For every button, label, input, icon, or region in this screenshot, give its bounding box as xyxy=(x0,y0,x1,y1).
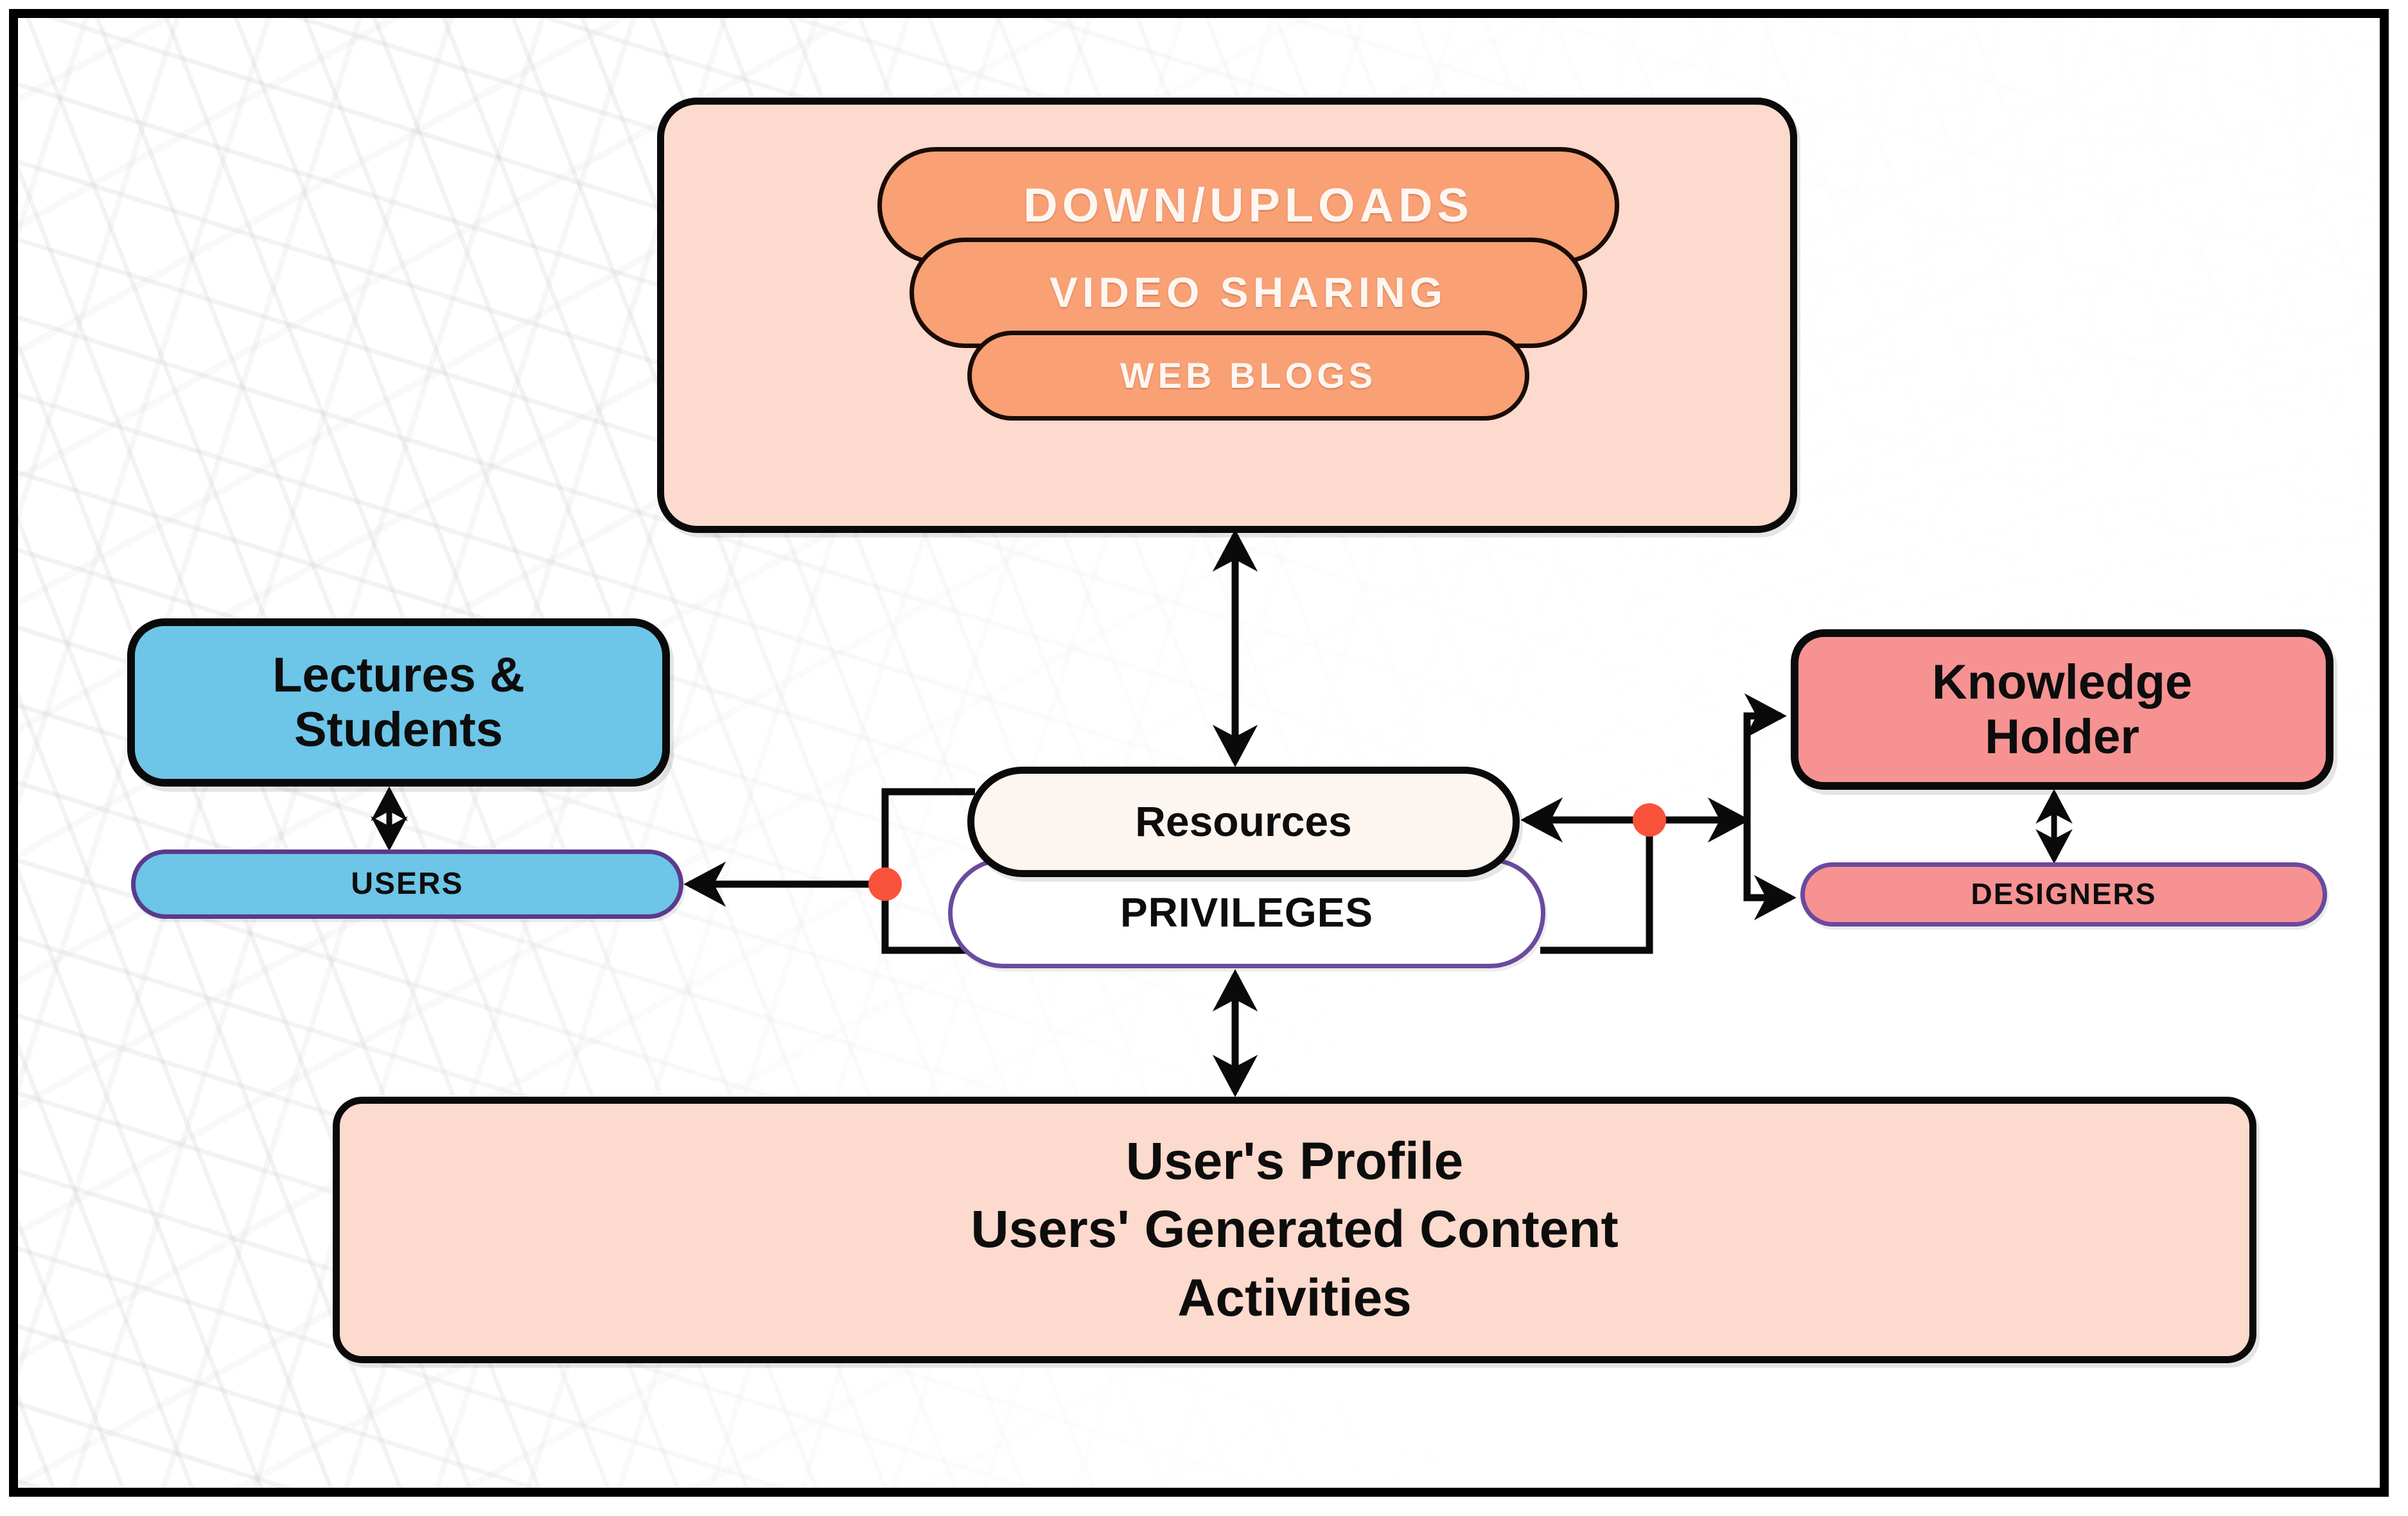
wire-riser-to-designers xyxy=(1747,820,1791,898)
service-pill-label: VIDEO SHARING xyxy=(1050,269,1447,317)
node-profile-line1: User's Profile xyxy=(1126,1128,1463,1196)
node-profile-line3: Activities xyxy=(1177,1264,1412,1333)
node-user-profile-panel[interactable]: User's Profile Users' Generated Content … xyxy=(333,1097,2256,1363)
diagram-canvas: DOWN/UPLOADS VIDEO SHARING WEB BLOGS Lec… xyxy=(0,0,2408,1516)
content-services-panel: DOWN/UPLOADS VIDEO SHARING WEB BLOGS xyxy=(657,98,1797,533)
node-privileges-label: PRIVILEGES xyxy=(1120,890,1373,936)
service-pill-label: WEB BLOGS xyxy=(1120,356,1376,396)
junction-dot-left xyxy=(868,867,902,901)
wire-privileges-right-branch xyxy=(1540,820,1649,950)
node-knowledge-line1: Knowledge xyxy=(1932,655,2192,710)
node-knowledge-holder[interactable]: Knowledge Holder xyxy=(1791,629,2333,790)
node-lectures-and-students[interactable]: Lectures & Students xyxy=(127,618,670,787)
node-lectures-line2: Students xyxy=(272,702,525,757)
node-designers-role[interactable]: DESIGNERS xyxy=(1800,862,2327,927)
junction-dot-right xyxy=(1633,803,1666,837)
node-resources[interactable]: Resources xyxy=(967,767,1520,877)
service-pill-web-blogs[interactable]: WEB BLOGS xyxy=(967,331,1529,421)
service-pill-label: DOWN/UPLOADS xyxy=(1023,179,1473,232)
node-knowledge-text: Knowledge Holder xyxy=(1932,655,2192,764)
node-users-role[interactable]: USERS xyxy=(131,849,683,919)
node-designers-label: DESIGNERS xyxy=(1971,878,2157,911)
wire-resources-left-branch xyxy=(885,792,975,884)
node-users-label: USERS xyxy=(351,867,463,902)
node-lectures-line1: Lectures & xyxy=(272,648,525,702)
node-lectures-text: Lectures & Students xyxy=(272,648,525,757)
node-resources-label: Resources xyxy=(1135,798,1352,846)
node-profile-line2: Users' Generated Content xyxy=(971,1196,1618,1264)
diagram-frame: DOWN/UPLOADS VIDEO SHARING WEB BLOGS Lec… xyxy=(9,9,2389,1497)
wire-riser-to-knowledge xyxy=(1747,716,1781,820)
node-knowledge-line2: Holder xyxy=(1932,710,2192,764)
